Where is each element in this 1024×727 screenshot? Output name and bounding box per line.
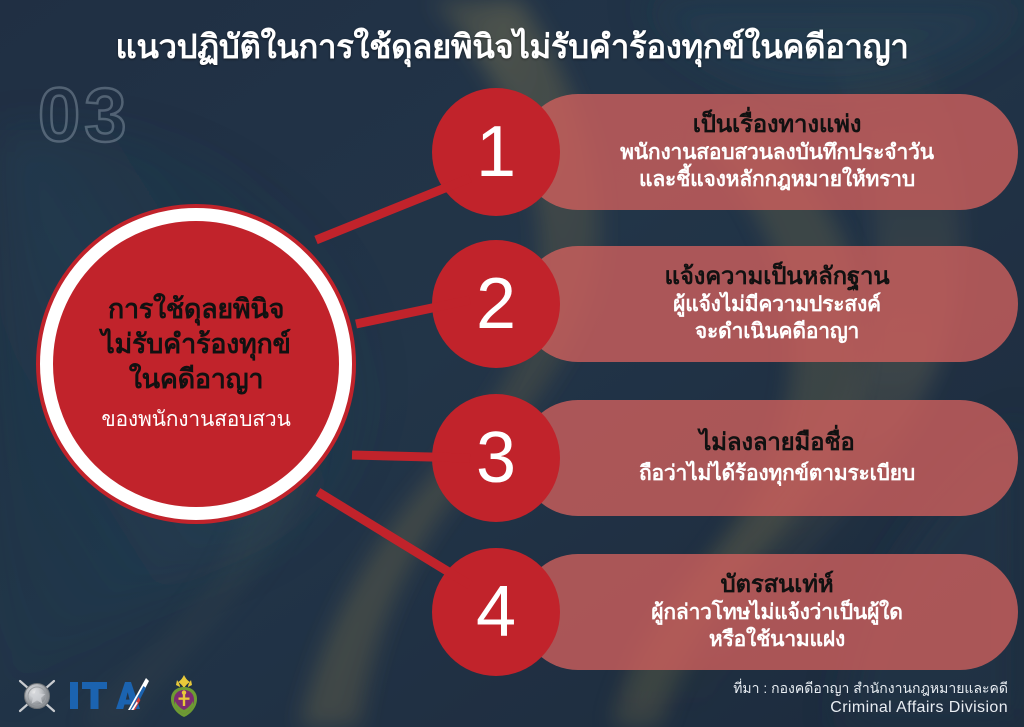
item-body-line-2: หรือใช้นามแฝง <box>709 627 845 653</box>
item-body-line-1: พนักงานสอบสวนลงบันทึกประจำวัน <box>620 140 934 166</box>
source-credit-thai: ที่มา : กองคดีอาญา สำนักงานกฎหมายและคดี <box>733 679 1008 698</box>
center-topic-circle: การใช้ดุลยพินิจ ไม่รับคำร้องทุกข์ ในคดีอ… <box>40 208 352 520</box>
page-title: แนวปฏิบัติในการใช้ดุลยพินิจไม่รับคำร้องท… <box>0 20 1024 73</box>
police-shield-icon <box>14 673 60 719</box>
list-item[interactable]: เป็นเรื่องทางแพ่ง พนักงานสอบสวนลงบันทึกป… <box>432 88 1018 216</box>
list-item[interactable]: แจ้งความเป็นหลักฐาน ผู้แจ้งไม่มีความประส… <box>432 240 1018 368</box>
item-number-badge: 1 <box>432 88 560 216</box>
item-card: เป็นเรื่องทางแพ่ง พนักงานสอบสวนลงบันทึกป… <box>520 94 1018 210</box>
source-credit-english: Criminal Affairs Division <box>733 697 1008 719</box>
item-card: ไม่ลงลายมือชื่อ ถือว่าไม่ได้ร้องทุกข์ตาม… <box>520 400 1018 516</box>
item-body-line-1: ผู้กล่าวโทษไม่แจ้งว่าเป็นผู้ใด <box>651 600 902 626</box>
item-heading: เป็นเรื่องทางแพ่ง <box>693 111 862 139</box>
item-heading: แจ้งความเป็นหลักฐาน <box>665 263 890 291</box>
item-card: บัตรสนเท่ห์ ผู้กล่าวโทษไม่แจ้งว่าเป็นผู้… <box>520 554 1018 670</box>
center-title-line-1: การใช้ดุลยพินิจ <box>108 292 284 327</box>
item-number-badge: 2 <box>432 240 560 368</box>
source-credit: ที่มา : กองคดีอาญา สำนักงานกฎหมายและคดี … <box>733 679 1008 719</box>
item-card: แจ้งความเป็นหลักฐาน ผู้แจ้งไม่มีความประส… <box>520 246 1018 362</box>
section-number-watermark: 03 <box>38 78 131 154</box>
item-body-line-2: และชี้แจงหลักกฎหมายให้ทราบ <box>639 167 915 193</box>
item-number-badge: 3 <box>432 394 560 522</box>
item-number-badge: 4 <box>432 548 560 676</box>
item-body-line-2: จะดำเนินคดีอาญา <box>695 319 859 345</box>
item-body-line-1: ผู้แจ้งไม่มีความประสงค์ <box>673 292 881 318</box>
item-body-line-1: ถือว่าไม่ได้ร้องทุกข์ตามระเบียบ <box>639 461 915 487</box>
footer-logos <box>14 673 204 719</box>
royal-police-emblem-icon <box>164 674 204 718</box>
list-item[interactable]: บัตรสนเท่ห์ ผู้กล่าวโทษไม่แจ้งว่าเป็นผู้… <box>432 548 1018 676</box>
center-title-line-2: ไม่รับคำร้องทุกข์ <box>101 327 290 362</box>
item-heading: ไม่ลงลายมือชื่อ <box>699 429 854 457</box>
item-heading: บัตรสนเท่ห์ <box>720 571 833 599</box>
list-item[interactable]: ไม่ลงลายมือชื่อ ถือว่าไม่ได้ร้องทุกข์ตาม… <box>432 394 1018 522</box>
ita-logo-icon <box>68 676 156 716</box>
center-title-line-3: ในคดีอาญา <box>129 362 263 397</box>
center-subtitle: ของพนักงานสอบสวน <box>101 403 290 436</box>
